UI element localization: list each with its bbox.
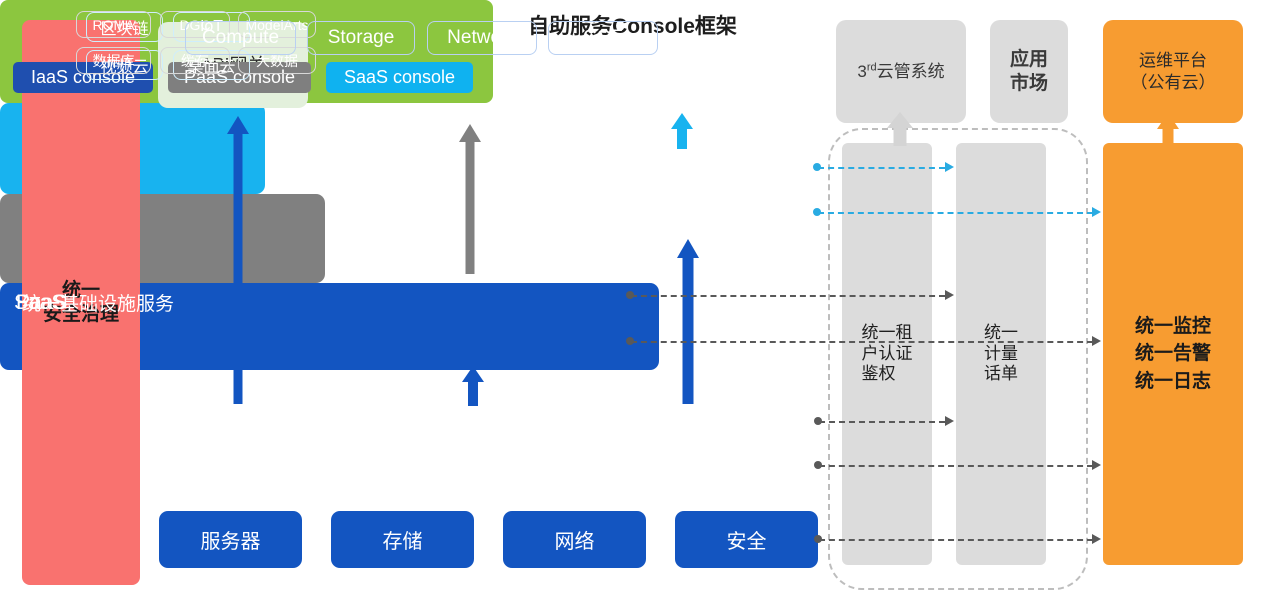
- blue-up-arrow-infra-paas: [461, 366, 485, 406]
- shared-service-metering-billing: 统一计量话单: [956, 143, 1046, 565]
- infra-connector-line-2: [819, 465, 1093, 467]
- infra-connector-line-1: [819, 421, 945, 423]
- shared-service-metering-billing-label: 统一计量话单: [984, 323, 1018, 384]
- gray-up-arrow-third-party: [888, 112, 912, 146]
- hardware-connector-line: [819, 539, 1093, 541]
- saas-console-button[interactable]: SaaS console: [326, 62, 473, 93]
- blue-up-arrow-infra-saas: [676, 239, 700, 404]
- gray-up-arrow-paas-console: [458, 124, 482, 274]
- hardware-server-box[interactable]: 服务器: [159, 511, 302, 568]
- architecture-diagram: 统一安全治理 API网关 自助服务Console框架 IaaS console …: [0, 0, 1265, 605]
- shared-service-tenant-auth: 统一租户认证鉴权: [842, 143, 932, 565]
- app-market-box: 应用市场: [990, 20, 1068, 123]
- infra-service-cce[interactable]: CCE: [548, 21, 658, 55]
- paas-connector-line-2: [631, 341, 1093, 343]
- ops-platform-public-cloud-box: 运维平台（公有云）: [1103, 20, 1243, 123]
- saas-connector-line-1: [818, 167, 945, 169]
- infra-service-compute[interactable]: Compute: [185, 21, 296, 55]
- third-party-cloud-mgmt-label: 3rd云管系统: [857, 61, 944, 82]
- ops-platform-public-cloud-label: 运维平台（公有云）: [1131, 50, 1216, 93]
- saas-connector-line-2: [818, 212, 1093, 214]
- cyan-up-arrow-saas-console: [670, 113, 694, 149]
- saas-connector-head-2: [1092, 207, 1101, 217]
- unified-infrastructure-layer: 统一基础设施服务 Compute Storage Network CCE: [0, 283, 659, 370]
- hardware-connector-head: [1092, 534, 1101, 544]
- third-party-cloud-mgmt-box: 3rd云管系统: [836, 20, 966, 123]
- paas-connector-line-1: [631, 295, 945, 297]
- app-market-label: 应用市场: [1010, 48, 1048, 96]
- paas-connector-head-2: [1092, 336, 1101, 346]
- orange-up-arrow-ops-platform: [1156, 113, 1180, 146]
- unified-ops-monitoring-panel: 统一监控统一告警统一日志: [1103, 143, 1243, 565]
- unified-infrastructure-label: 统一基础设施服务: [22, 0, 174, 605]
- hardware-security-box[interactable]: 安全: [675, 511, 818, 568]
- infra-connector-head-1: [945, 416, 954, 426]
- blue-up-arrow-api-gateway: [226, 116, 250, 404]
- hardware-storage-box[interactable]: 存储: [331, 511, 474, 568]
- unified-ops-monitoring-label: 统一监控统一告警统一日志: [1135, 313, 1211, 396]
- saas-connector-head-1: [945, 162, 954, 172]
- paas-connector-head-1: [945, 290, 954, 300]
- shared-service-tenant-auth-label: 统一租户认证鉴权: [862, 323, 913, 384]
- hardware-network-box[interactable]: 网络: [503, 511, 646, 568]
- infra-service-storage[interactable]: Storage: [307, 21, 415, 55]
- infra-connector-head-2: [1092, 460, 1101, 470]
- infra-service-network[interactable]: Network: [427, 21, 537, 55]
